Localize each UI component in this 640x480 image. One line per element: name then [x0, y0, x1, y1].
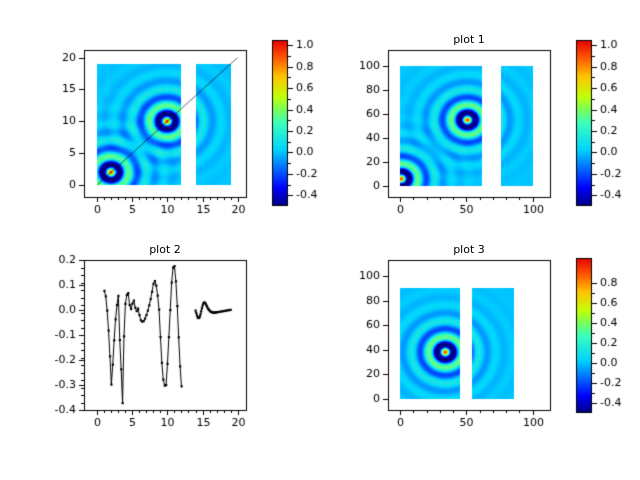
panel-bottom-left [84, 260, 246, 410]
panel-top-left [84, 50, 246, 197]
colorbar-bottom-right [576, 258, 592, 413]
panel-bottom-left-title: plot 2 [84, 243, 246, 256]
panel-top-right [388, 50, 550, 197]
figure-canvas: plot 1plot 2plot 3 [0, 0, 640, 480]
panel-bottom-right-title: plot 3 [388, 243, 550, 256]
colorbar-top-left [272, 40, 288, 206]
colorbar-top-right [576, 40, 592, 206]
panel-bottom-right [388, 260, 550, 410]
panel-top-right-title: plot 1 [388, 33, 550, 46]
